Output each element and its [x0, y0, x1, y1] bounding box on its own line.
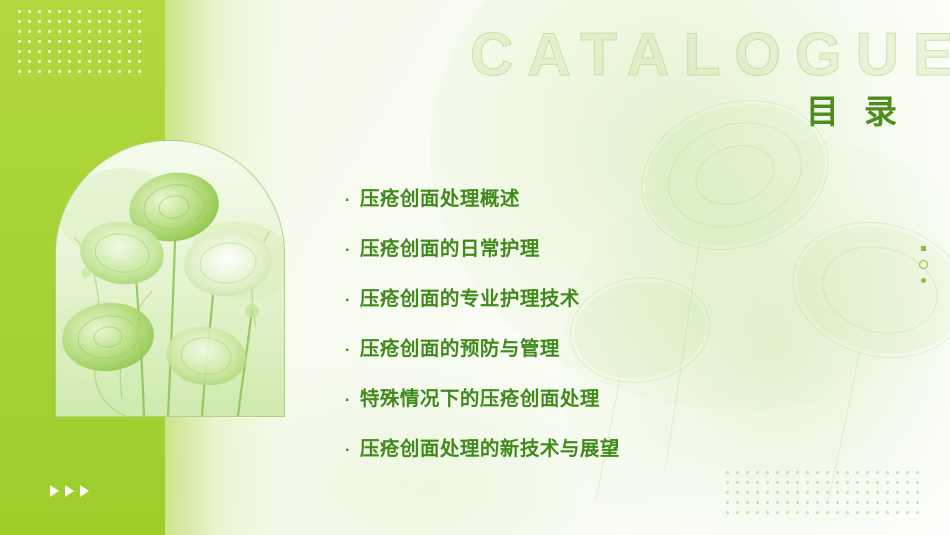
grid-dot — [836, 481, 839, 484]
grid-dot — [98, 20, 101, 23]
toc-item-3[interactable]: ·压疮创面的专业护理技术 — [345, 282, 815, 311]
grid-dot — [906, 471, 909, 474]
grid-dot — [38, 60, 41, 63]
grid-dot — [776, 501, 779, 504]
grid-dot — [816, 501, 819, 504]
arrow-icon — [80, 485, 89, 497]
grid-dot — [28, 60, 31, 63]
toc-item-label: 压疮创面的预防与管理 — [360, 332, 560, 361]
grid-dot — [726, 491, 729, 494]
grid-dot — [48, 50, 51, 53]
grid-dot — [58, 10, 61, 13]
grid-dot — [18, 50, 21, 53]
grid-dot — [796, 491, 799, 494]
grid-dot — [88, 30, 91, 33]
grid-dot — [128, 40, 131, 43]
grid-dot — [98, 70, 101, 73]
grid-dot — [816, 471, 819, 474]
grid-dot — [766, 501, 769, 504]
grid-dot — [108, 20, 111, 23]
grid-dot — [138, 60, 141, 63]
grid-dot — [736, 511, 739, 514]
grid-dot — [48, 10, 51, 13]
grid-dot — [876, 481, 879, 484]
dot-marker-icon — [921, 278, 926, 283]
grid-dot — [876, 471, 879, 474]
grid-dot — [78, 60, 81, 63]
grid-dot — [118, 20, 121, 23]
grid-dot — [38, 10, 41, 13]
grid-dot — [816, 511, 819, 514]
grid-dot — [886, 491, 889, 494]
grid-dot — [88, 20, 91, 23]
bullet-icon: · — [345, 293, 351, 309]
side-marker-group — [919, 246, 928, 283]
grid-dot — [736, 491, 739, 494]
grid-dot — [118, 60, 121, 63]
grid-dot — [756, 491, 759, 494]
grid-dot — [128, 30, 131, 33]
toc-item-label: 特殊情况下的压疮创面处理 — [360, 382, 600, 411]
grid-dot — [846, 491, 849, 494]
grid-dot — [68, 60, 71, 63]
grid-dot — [836, 511, 839, 514]
grid-dot — [58, 30, 61, 33]
grid-dot — [846, 501, 849, 504]
grid-dot — [28, 10, 31, 13]
toc-item-2[interactable]: ·压疮创面的日常护理 — [345, 232, 815, 261]
grid-dot — [876, 511, 879, 514]
grid-dot — [746, 511, 749, 514]
grid-dot — [916, 471, 919, 474]
grid-dot — [128, 70, 131, 73]
grid-dot — [138, 40, 141, 43]
grid-dot — [866, 491, 869, 494]
grid-dot — [58, 70, 61, 73]
square-marker-icon — [921, 246, 926, 251]
grid-dot — [826, 501, 829, 504]
grid-dot — [786, 511, 789, 514]
grid-dot — [108, 10, 111, 13]
grid-dot — [48, 70, 51, 73]
bullet-icon: · — [345, 393, 351, 409]
grid-dot — [826, 471, 829, 474]
grid-dot — [58, 40, 61, 43]
grid-dot — [88, 10, 91, 13]
grid-dot — [138, 20, 141, 23]
grid-dot — [836, 491, 839, 494]
grid-dot — [28, 70, 31, 73]
grid-dot — [796, 511, 799, 514]
grid-dot — [806, 511, 809, 514]
grid-dot — [78, 20, 81, 23]
grid-dot — [48, 40, 51, 43]
grid-dot — [866, 471, 869, 474]
grid-dot — [138, 30, 141, 33]
grid-dot — [726, 511, 729, 514]
grid-dot — [68, 30, 71, 33]
grid-dot — [98, 10, 101, 13]
grid-dot — [916, 501, 919, 504]
grid-dot — [806, 491, 809, 494]
grid-dot — [28, 20, 31, 23]
grid-dot — [726, 501, 729, 504]
grid-dot — [18, 30, 21, 33]
grid-dot — [68, 40, 71, 43]
grid-dot — [18, 10, 21, 13]
grid-dot — [78, 40, 81, 43]
grid-dot — [856, 481, 859, 484]
grid-dot — [98, 60, 101, 63]
grid-dot — [138, 10, 141, 13]
grid-dot — [906, 481, 909, 484]
grid-dot — [128, 10, 131, 13]
grid-dot — [746, 491, 749, 494]
grid-dot — [138, 70, 141, 73]
grid-dot — [896, 501, 899, 504]
grid-dot — [88, 50, 91, 53]
grid-dot — [68, 50, 71, 53]
catalogue-watermark: CATALOGUE — [470, 20, 950, 89]
grid-dot — [18, 40, 21, 43]
grid-dot — [896, 471, 899, 474]
grid-dot — [896, 491, 899, 494]
grid-dot — [886, 511, 889, 514]
grid-dot — [866, 511, 869, 514]
bullet-icon: · — [345, 243, 351, 259]
grid-dot — [88, 60, 91, 63]
grid-dot — [896, 481, 899, 484]
table-of-contents: ·压疮创面处理概述·压疮创面的日常护理·压疮创面的专业护理技术·压疮创面的预防与… — [345, 182, 815, 482]
grid-dot — [916, 491, 919, 494]
grid-dot — [766, 511, 769, 514]
grid-dot — [786, 491, 789, 494]
lotus-leaf-illustration — [56, 141, 284, 416]
grid-dot — [766, 491, 769, 494]
toc-item-label: 压疮创面的日常护理 — [360, 232, 540, 261]
grid-dot — [68, 70, 71, 73]
grid-dot — [826, 511, 829, 514]
grid-dot — [88, 70, 91, 73]
grid-dot — [776, 491, 779, 494]
grid-dot — [118, 30, 121, 33]
grid-dot — [846, 481, 849, 484]
grid-dot — [58, 20, 61, 23]
grid-dot — [886, 471, 889, 474]
grid-dot — [876, 491, 879, 494]
grid-dot — [78, 10, 81, 13]
grid-dot — [108, 40, 111, 43]
grid-dot — [78, 50, 81, 53]
grid-dot — [98, 50, 101, 53]
grid-dot — [38, 40, 41, 43]
grid-dot — [118, 10, 121, 13]
grid-dot — [906, 491, 909, 494]
grid-dot — [28, 50, 31, 53]
grid-dot — [806, 501, 809, 504]
grid-dot — [138, 50, 141, 53]
grid-dot — [786, 501, 789, 504]
grid-dot — [68, 20, 71, 23]
grid-dot — [128, 20, 131, 23]
grid-dot — [886, 481, 889, 484]
dot-grid-top-left — [18, 10, 148, 72]
grid-dot — [108, 60, 111, 63]
bullet-icon: · — [345, 193, 351, 209]
grid-dot — [108, 30, 111, 33]
arrow-icon — [50, 485, 59, 497]
grid-dot — [78, 30, 81, 33]
bullet-icon: · — [345, 443, 351, 459]
grid-dot — [896, 511, 899, 514]
grid-dot — [18, 70, 21, 73]
grid-dot — [118, 40, 121, 43]
grid-dot — [58, 50, 61, 53]
grid-dot — [28, 30, 31, 33]
grid-dot — [128, 60, 131, 63]
grid-dot — [776, 511, 779, 514]
grid-dot — [118, 50, 121, 53]
grid-dot — [886, 501, 889, 504]
toc-item-4[interactable]: ·压疮创面的预防与管理 — [345, 332, 815, 361]
grid-dot — [58, 60, 61, 63]
grid-dot — [38, 70, 41, 73]
grid-dot — [38, 50, 41, 53]
grid-dot — [78, 70, 81, 73]
toc-item-label: 压疮创面处理的新技术与展望 — [360, 432, 620, 461]
grid-dot — [826, 491, 829, 494]
toc-item-1[interactable]: ·压疮创面处理概述 — [345, 182, 815, 211]
grid-dot — [108, 70, 111, 73]
grid-dot — [836, 471, 839, 474]
grid-dot — [48, 60, 51, 63]
arrow-icon — [65, 485, 74, 497]
grid-dot — [796, 501, 799, 504]
grid-dot — [916, 481, 919, 484]
grid-dot — [866, 501, 869, 504]
grid-dot — [816, 491, 819, 494]
arch-image-frame — [55, 140, 285, 417]
toc-item-label: 压疮创面处理概述 — [360, 182, 520, 211]
grid-dot — [28, 40, 31, 43]
grid-dot — [88, 40, 91, 43]
page-title: 目 录 — [806, 85, 905, 133]
grid-dot — [48, 30, 51, 33]
circle-outline-icon — [919, 260, 928, 269]
grid-dot — [68, 10, 71, 13]
grid-dot — [746, 501, 749, 504]
grid-dot — [38, 20, 41, 23]
grid-dot — [108, 50, 111, 53]
grid-dot — [916, 511, 919, 514]
grid-dot — [98, 40, 101, 43]
grid-dot — [38, 30, 41, 33]
grid-dot — [128, 50, 131, 53]
grid-dot — [846, 511, 849, 514]
grid-dot — [856, 491, 859, 494]
grid-dot — [48, 20, 51, 23]
grid-dot — [906, 501, 909, 504]
slide-canvas: CATALOGUE 目 录 — [0, 0, 950, 535]
grid-dot — [756, 501, 759, 504]
grid-dot — [856, 471, 859, 474]
toc-item-6[interactable]: ·压疮创面处理的新技术与展望 — [345, 432, 815, 461]
grid-dot — [856, 501, 859, 504]
grid-dot — [876, 501, 879, 504]
grid-dot — [18, 60, 21, 63]
bullet-icon: · — [345, 343, 351, 359]
grid-dot — [856, 511, 859, 514]
grid-dot — [736, 501, 739, 504]
toc-item-5[interactable]: ·特殊情况下的压疮创面处理 — [345, 382, 815, 411]
toc-item-label: 压疮创面的专业护理技术 — [360, 282, 580, 311]
grid-dot — [836, 501, 839, 504]
grid-dot — [756, 511, 759, 514]
grid-dot — [98, 30, 101, 33]
grid-dot — [906, 511, 909, 514]
grid-dot — [826, 481, 829, 484]
arrow-marks — [50, 485, 89, 497]
grid-dot — [18, 20, 21, 23]
grid-dot — [118, 70, 121, 73]
grid-dot — [866, 481, 869, 484]
grid-dot — [816, 481, 819, 484]
grid-dot — [846, 471, 849, 474]
